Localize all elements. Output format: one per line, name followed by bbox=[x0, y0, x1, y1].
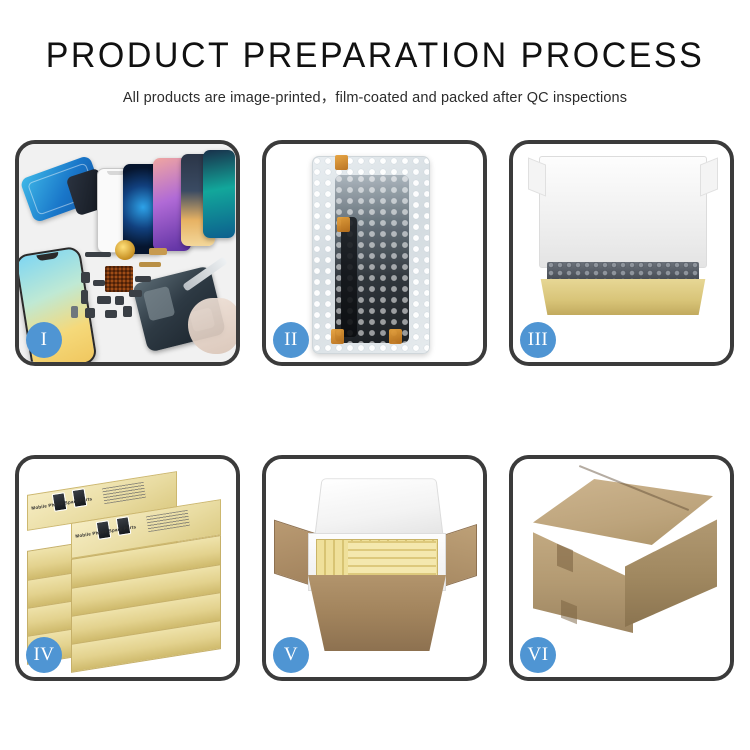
bubble-wrap-bag-icon bbox=[312, 156, 430, 354]
header: PRODUCT PREPARATION PROCESS All products… bbox=[0, 0, 750, 107]
step-panel-6: VI bbox=[509, 455, 734, 681]
step-badge-3: III bbox=[520, 322, 556, 358]
orange-tape-icon bbox=[331, 329, 344, 344]
gold-coil-part-icon bbox=[115, 240, 135, 260]
step-badge-1: I bbox=[26, 322, 62, 358]
white-box-lid-icon bbox=[539, 156, 707, 268]
hand-icon bbox=[188, 298, 236, 354]
small-part-icon bbox=[71, 306, 78, 318]
kraft-box-front-icon bbox=[539, 279, 707, 315]
small-part-icon bbox=[139, 262, 161, 267]
carton-body-icon bbox=[308, 575, 446, 651]
step-panel-2: II bbox=[262, 140, 487, 366]
screen-stack bbox=[97, 152, 232, 257]
small-part-icon bbox=[129, 290, 142, 297]
orange-tape-icon bbox=[335, 155, 348, 170]
box-stack: Mobile Phone Spare Parts Mobile Phone Sp… bbox=[27, 473, 229, 665]
small-part-icon bbox=[149, 248, 167, 255]
step-panel-4: Mobile Phone Spare Parts Mobile Phone Sp… bbox=[15, 455, 240, 681]
process-steps-grid: I II III bbox=[15, 140, 735, 685]
small-part-icon bbox=[123, 306, 132, 317]
orange-tape-icon bbox=[389, 329, 402, 344]
small-part-icon bbox=[105, 310, 117, 318]
carton-top-face-icon bbox=[533, 479, 713, 545]
step-panel-1: I bbox=[15, 140, 240, 366]
teal-display-icon bbox=[203, 150, 235, 238]
orange-tape-icon bbox=[337, 217, 350, 232]
step-badge-6: VI bbox=[520, 637, 556, 673]
page-title: PRODUCT PREPARATION PROCESS bbox=[11, 38, 739, 75]
small-part-icon bbox=[97, 296, 111, 304]
step-panel-3: III bbox=[509, 140, 734, 366]
chip-board-icon bbox=[105, 266, 133, 292]
step-badge-2: II bbox=[273, 322, 309, 358]
step-badge-4: IV bbox=[26, 637, 62, 673]
page-subtitle: All products are image-printed，film-coat… bbox=[0, 86, 750, 107]
small-part-icon bbox=[85, 252, 111, 257]
step-panel-5: V bbox=[262, 455, 487, 681]
foam-lid-icon bbox=[314, 478, 444, 539]
small-part-icon bbox=[135, 276, 151, 282]
small-part-icon bbox=[115, 296, 124, 305]
small-part-icon bbox=[85, 308, 95, 318]
small-part-icon bbox=[81, 290, 88, 304]
step-badge-5: V bbox=[273, 637, 309, 673]
product-preparation-infographic: PRODUCT PREPARATION PROCESS All products… bbox=[0, 0, 750, 750]
small-part-icon bbox=[93, 280, 105, 286]
flex-cable-icon bbox=[341, 217, 357, 337]
small-part-icon bbox=[81, 272, 90, 283]
